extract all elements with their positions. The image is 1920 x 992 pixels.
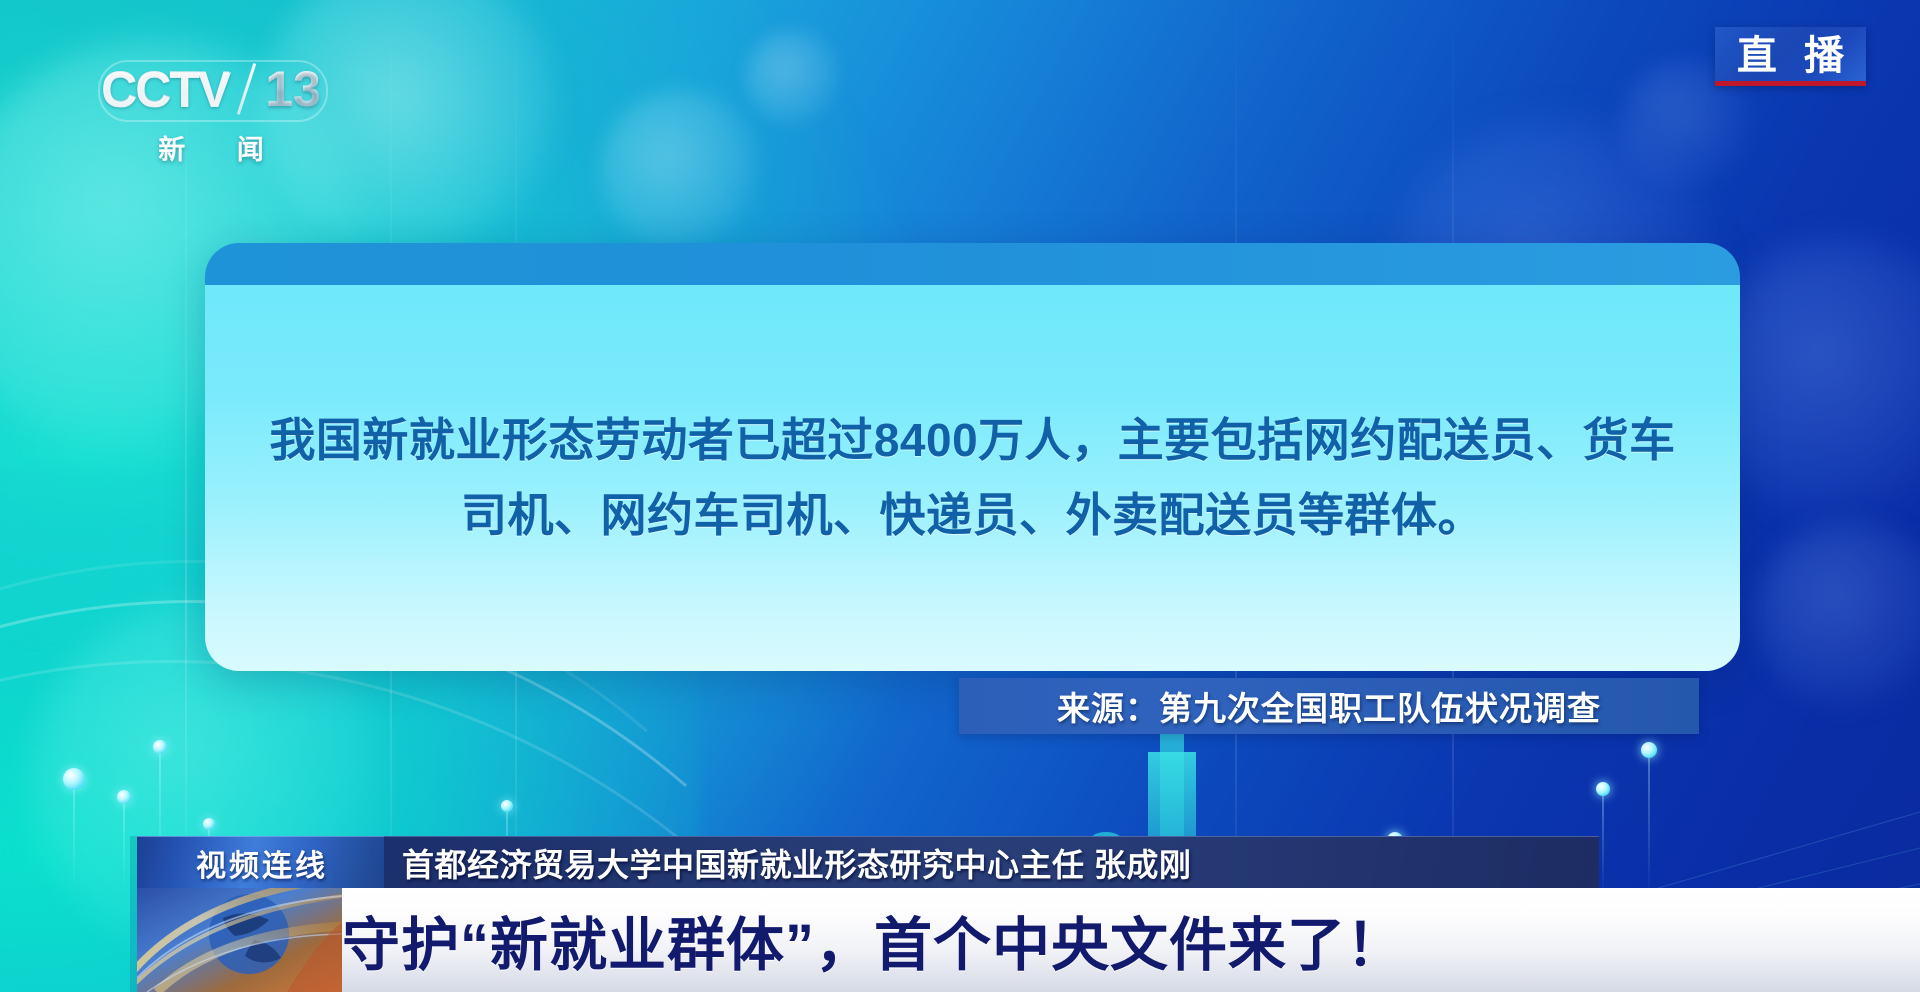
cctv-wordmark: CCTV [101, 60, 229, 118]
video-link-badge: 视频连线 [137, 836, 384, 888]
info-card: 我国新就业形态劳动者已超过8400万人，主要包括网约配送员、货车司机、网约车司机… [205, 243, 1740, 671]
live-badge: 直 播 [1715, 27, 1866, 86]
globe-icon [137, 888, 342, 992]
channel-subtitle: 新 闻 [96, 128, 326, 167]
info-card-header-bar [205, 243, 1740, 285]
lower-third-left-edge [130, 836, 137, 992]
info-card-text: 我国新就业形态劳动者已超过8400万人，主要包括网约配送员、货车司机、网约车司机… [259, 403, 1686, 552]
logo-slash-icon [231, 60, 265, 118]
lower-third: 视频连线 首都经济贸易大学中国新就业形态研究中心主任 张成刚 守护“新就业群体”… [0, 836, 1920, 992]
live-badge-label: 直 播 [1729, 31, 1852, 81]
channel-number: 13 [265, 60, 321, 118]
info-card-body: 我国新就业形态劳动者已超过8400万人，主要包括网约配送员、货车司机、网约车司机… [205, 285, 1740, 671]
source-attribution-label: 来源：第九次全国职工队伍状况调查 [1057, 682, 1601, 730]
channel-logo: CCTV 13 新 闻 [96, 58, 326, 167]
lower-third-top-row: 视频连线 首都经济贸易大学中国新就业形态研究中心主任 张成刚 [137, 836, 1599, 888]
video-link-label: 视频连线 [193, 841, 328, 885]
guest-info-bar: 首都经济贸易大学中国新就业形态研究中心主任 张成刚 [384, 836, 1599, 888]
source-attribution-bar: 来源：第九次全国职工队伍状况调查 [959, 678, 1699, 734]
headline-text: 守护“新就业群体”，首个中央文件来了！ [342, 898, 1405, 982]
globe-graphic [137, 888, 342, 992]
headline-bar: 守护“新就业群体”，首个中央文件来了！ [137, 888, 1920, 992]
broadcast-screen: CCTV 13 新 闻 直 播 我国新就业形态劳动者已超过8400万人，主要包括… [0, 0, 1920, 992]
guest-title-label: 首都经济贸易大学中国新就业形态研究中心主任 张成刚 [402, 840, 1191, 886]
